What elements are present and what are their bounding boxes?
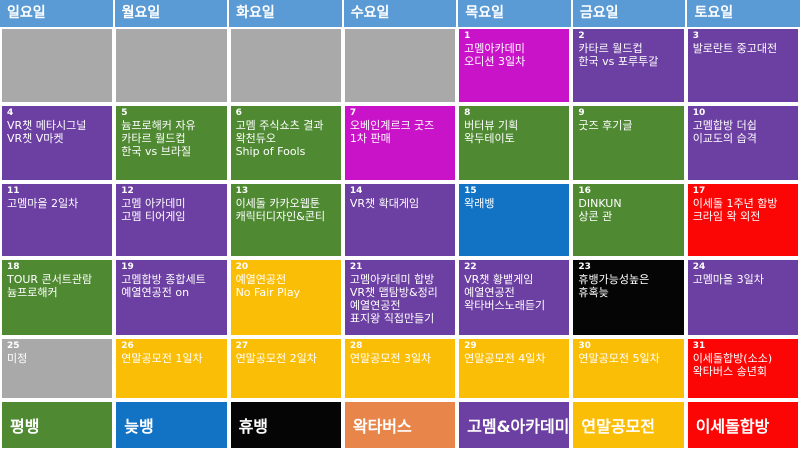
day-number: 8 <box>464 108 565 119</box>
day-cell-17[interactable]: 17이세돌 1주년 함방크라임 왁 외전 <box>686 182 800 258</box>
legend-item-label: 연말공모전 <box>581 413 655 437</box>
day-event: 연말공모전 3일차 <box>350 352 451 365</box>
day-event-list: 고멤아카데미오디션 3일차 <box>464 42 565 68</box>
day-event-list: 미정 <box>7 352 108 365</box>
day-number: 18 <box>7 262 108 273</box>
day-event-list: 발로란트 중고대전 <box>693 42 794 55</box>
day-event: 크라임 왁 외전 <box>693 210 794 223</box>
day-event: 고멤 아카데미 <box>121 197 222 210</box>
day-event: 한국 vs 브라질 <box>121 145 222 158</box>
day-cell-21[interactable]: 21고멤아카데미 합방VR챗 맵탐방&정리예열연공전표지왕 직접만들기 <box>343 258 457 337</box>
day-event: 늄프로해커 <box>7 286 108 299</box>
day-event-list: VR챗 확대게임 <box>350 197 451 210</box>
day-event-list: 고멤 주식쇼츠 결과왁천듀오Ship of Fools <box>236 119 337 158</box>
day-number: 24 <box>693 262 794 273</box>
day-cell-20[interactable]: 20예열연공전No Fair Play <box>229 258 343 337</box>
day-cell-12[interactable]: 12고멤 아카데미고멤 티어게임 <box>114 182 228 258</box>
week-row-4: 18TOUR 콘서트관람늄프로해커19고멤합방 종합세트예열연공전 on20예열… <box>0 258 800 337</box>
day-event: 이세돌합방(소소) <box>693 352 794 365</box>
day-number: 12 <box>121 186 222 197</box>
day-cell-9[interactable]: 9굿즈 후기글 <box>571 104 685 182</box>
legend-item-4[interactable]: 고멤&아카데미 <box>457 400 571 450</box>
day-event-list: 버터뷰 기획왁두테이토 <box>464 119 565 145</box>
day-event: 발로란트 중고대전 <box>693 42 794 55</box>
day-cell-24[interactable]: 24고멤마을 3일차 <box>686 258 800 337</box>
day-number: 22 <box>464 262 565 273</box>
day-event: 연말공모전 4일차 <box>464 352 565 365</box>
day-event: VR챗 V마켓 <box>7 132 108 145</box>
day-event: 예열연공전 <box>464 286 565 299</box>
day-event: 캐릭터디자인&콘티 <box>236 210 337 223</box>
day-event: 왁래뱅 <box>464 197 565 210</box>
day-event: 이세돌 1주년 함방 <box>693 197 794 210</box>
day-event: No Fair Play <box>236 286 337 299</box>
day-number: 30 <box>578 341 679 352</box>
week-row-5: 25미정26연말공모전 1일차27연말공모전 2일차28연말공모전 3일차29연… <box>0 337 800 400</box>
week-row-3: 11고멤마을 2일차12고멤 아카데미고멤 티어게임13이세돌 카카오웹툰캐릭터… <box>0 182 800 258</box>
day-number: 21 <box>350 262 451 273</box>
day-number: 5 <box>121 108 222 119</box>
day-event: 왁타버스노래듣기 <box>464 299 565 312</box>
day-event: 고멤아카데미 <box>464 42 565 55</box>
day-event-list: 오베인계르크 굿즈1차 판매 <box>350 119 451 145</box>
day-event-list: 연말공모전 3일차 <box>350 352 451 365</box>
legend-item-label: 고멤&아카데미 <box>467 413 569 437</box>
day-cell-19[interactable]: 19고멤합방 종합세트예열연공전 on <box>114 258 228 337</box>
day-event-list: 고멤 아카데미고멤 티어게임 <box>121 197 222 223</box>
day-event: 연말공모전 2일차 <box>236 352 337 365</box>
day-event-list: 고멤합방 종합세트예열연공전 on <box>121 273 222 299</box>
day-number: 4 <box>7 108 108 119</box>
day-number: 23 <box>578 262 679 273</box>
legend-item-label: 평뱅 <box>10 413 39 437</box>
day-cell-23[interactable]: 23휴뱅가능성높은휴혹늦 <box>571 258 685 337</box>
day-event: 고멤 티어게임 <box>121 210 222 223</box>
day-cell-4[interactable]: 4VR챗 메타시그널VR챗 V마켓 <box>0 104 114 182</box>
calendar-grid: 일요일월요일화요일수요일목요일금요일토요일 1고멤아카데미오디션 3일차2카타르… <box>0 0 800 450</box>
day-cell-2[interactable]: 2카타르 월드컵한국 vs 포루투갈 <box>571 27 685 104</box>
day-cell-30[interactable]: 30연말공모전 5일차 <box>571 337 685 400</box>
day-number: 14 <box>350 186 451 197</box>
day-event: 예열연공전 <box>350 299 451 312</box>
day-cell-25[interactable]: 25미정 <box>0 337 114 400</box>
day-number: 13 <box>236 186 337 197</box>
day-cell-22[interactable]: 22VR챗 황뱉게임예열연공전왁타버스노래듣기 <box>457 258 571 337</box>
day-event-list: 고멤아카데미 합방VR챗 맵탐방&정리예열연공전표지왕 직접만들기 <box>350 273 451 325</box>
day-number: 17 <box>693 186 794 197</box>
day-event: 1차 판매 <box>350 132 451 145</box>
day-event: 연말공모전 5일차 <box>578 352 679 365</box>
legend-item-3[interactable]: 왁타버스 <box>343 400 457 450</box>
day-event-list: 이세돌 1주년 함방크라임 왁 외전 <box>693 197 794 223</box>
legend-item-label: 늦뱅 <box>124 413 153 437</box>
day-number: 20 <box>236 262 337 273</box>
day-event: 예열연공전 <box>236 273 337 286</box>
day-event: 왁두테이토 <box>464 132 565 145</box>
day-event-list: 굿즈 후기글 <box>578 119 679 132</box>
day-event-list: 이세돌 카카오웹툰캐릭터디자인&콘티 <box>236 197 337 223</box>
day-cell-14[interactable]: 14VR챗 확대게임 <box>343 182 457 258</box>
legend-item-label: 왁타버스 <box>353 413 412 437</box>
day-number: 15 <box>464 186 565 197</box>
day-event: 예열연공전 on <box>121 286 222 299</box>
day-event: 고멤아카데미 합방 <box>350 273 451 286</box>
legend-item-0[interactable]: 평뱅 <box>0 400 114 450</box>
weekday-header-6: 토요일 <box>687 0 800 27</box>
day-event-list: DINKUN상콘 관 <box>578 197 679 223</box>
day-cell-13[interactable]: 13이세돌 카카오웹툰캐릭터디자인&콘티 <box>229 182 343 258</box>
weekday-header-2: 화요일 <box>229 0 344 27</box>
day-event-list: 예열연공전No Fair Play <box>236 273 337 299</box>
day-event-list: TOUR 콘서트관람늄프로해커 <box>7 273 108 299</box>
day-number: 6 <box>236 108 337 119</box>
weekday-header-4: 목요일 <box>458 0 573 27</box>
day-event: TOUR 콘서트관람 <box>7 273 108 286</box>
weekday-header-5: 금요일 <box>573 0 688 27</box>
day-event: 고멤마을 2일차 <box>7 197 108 210</box>
day-cell-8[interactable]: 8버터뷰 기획왁두테이토 <box>457 104 571 182</box>
day-event: 오베인계르크 굿즈 <box>350 119 451 132</box>
day-event-list: 카타르 월드컵한국 vs 포루투갈 <box>578 42 679 68</box>
day-cell-18[interactable]: 18TOUR 콘서트관람늄프로해커 <box>0 258 114 337</box>
day-event-list: 연말공모전 1일차 <box>121 352 222 365</box>
day-event-list: 연말공모전 5일차 <box>578 352 679 365</box>
day-cell-15[interactable]: 15왁래뱅 <box>457 182 571 258</box>
day-event: 휴혹늦 <box>578 286 679 299</box>
day-cell-26[interactable]: 26연말공모전 1일차 <box>114 337 228 400</box>
day-cell-10[interactable]: 10고멤합방 더쉽이교도의 습격 <box>686 104 800 182</box>
day-event: 카타르 월드컵 <box>121 132 222 145</box>
day-event-list: 고멤합방 더쉽이교도의 습격 <box>693 119 794 145</box>
weekday-header-row: 일요일월요일화요일수요일목요일금요일토요일 <box>0 0 800 27</box>
day-event: 굿즈 후기글 <box>578 119 679 132</box>
day-event: VR챗 맵탐방&정리 <box>350 286 451 299</box>
day-event: 카타르 월드컵 <box>578 42 679 55</box>
day-cell-empty[interactable] <box>0 27 114 104</box>
day-event-list: 고멤마을 2일차 <box>7 197 108 210</box>
legend-item-label: 휴뱅 <box>239 413 268 437</box>
weekday-header-1: 월요일 <box>115 0 230 27</box>
day-event: 버터뷰 기획 <box>464 119 565 132</box>
day-event-list: 왁래뱅 <box>464 197 565 210</box>
day-event: 연말공모전 1일차 <box>121 352 222 365</box>
day-event-list: 휴뱅가능성높은휴혹늦 <box>578 273 679 299</box>
week-row-2: 4VR챗 메타시그널VR챗 V마켓5늄프로해커 자유카타르 월드컵한국 vs 브… <box>0 104 800 182</box>
day-number: 29 <box>464 341 565 352</box>
week-row-1: 1고멤아카데미오디션 3일차2카타르 월드컵한국 vs 포루투갈3발로란트 중고… <box>0 27 800 104</box>
day-number: 9 <box>578 108 679 119</box>
day-event: DINKUN <box>578 197 679 210</box>
day-event: 고멤합방 더쉽 <box>693 119 794 132</box>
day-event: 이세돌 카카오웹툰 <box>236 197 337 210</box>
day-event: 한국 vs 포루투갈 <box>578 55 679 68</box>
legend-item-label: 이세돌합방 <box>696 413 770 437</box>
day-event: 이교도의 습격 <box>693 132 794 145</box>
day-number: 16 <box>578 186 679 197</box>
day-event: 고멤 주식쇼츠 결과 <box>236 119 337 132</box>
day-number: 3 <box>693 31 794 42</box>
day-number: 2 <box>578 31 679 42</box>
day-number: 11 <box>7 186 108 197</box>
day-cell-5[interactable]: 5늄프로해커 자유카타르 월드컵한국 vs 브라질 <box>114 104 228 182</box>
day-event-list: 연말공모전 2일차 <box>236 352 337 365</box>
day-event: 상콘 관 <box>578 210 679 223</box>
day-event-list: 고멤마을 3일차 <box>693 273 794 286</box>
day-event: 왁타버스 송년회 <box>693 365 794 378</box>
day-event: 표지왕 직접만들기 <box>350 312 451 325</box>
day-event: VR챗 확대게임 <box>350 197 451 210</box>
day-event: 오디션 3일차 <box>464 55 565 68</box>
day-number: 25 <box>7 341 108 352</box>
day-cell-11[interactable]: 11고멤마을 2일차 <box>0 182 114 258</box>
day-cell-empty[interactable] <box>343 27 457 104</box>
day-cell-1[interactable]: 1고멤아카데미오디션 3일차 <box>457 27 571 104</box>
day-cell-empty[interactable] <box>114 27 228 104</box>
day-event: VR챗 메타시그널 <box>7 119 108 132</box>
day-cell-3[interactable]: 3발로란트 중고대전 <box>686 27 800 104</box>
day-number: 26 <box>121 341 222 352</box>
day-event: 고멤합방 종합세트 <box>121 273 222 286</box>
day-event: 미정 <box>7 352 108 365</box>
day-event-list: 이세돌합방(소소)왁타버스 송년회 <box>693 352 794 378</box>
day-cell-31[interactable]: 31이세돌합방(소소)왁타버스 송년회 <box>686 337 800 400</box>
day-event-list: 연말공모전 4일차 <box>464 352 565 365</box>
day-event: 왁천듀오 <box>236 132 337 145</box>
day-cell-16[interactable]: 16DINKUN상콘 관 <box>571 182 685 258</box>
day-event-list: VR챗 메타시그널VR챗 V마켓 <box>7 119 108 145</box>
legend-item-2[interactable]: 휴뱅 <box>229 400 343 450</box>
day-number: 10 <box>693 108 794 119</box>
weekday-header-0: 일요일 <box>0 0 115 27</box>
day-cell-7[interactable]: 7오베인계르크 굿즈1차 판매 <box>343 104 457 182</box>
day-cell-28[interactable]: 28연말공모전 3일차 <box>343 337 457 400</box>
day-event-list: 늄프로해커 자유카타르 월드컵한국 vs 브라질 <box>121 119 222 158</box>
day-number: 19 <box>121 262 222 273</box>
day-event: 고멤마을 3일차 <box>693 273 794 286</box>
day-cell-empty[interactable] <box>229 27 343 104</box>
day-number: 31 <box>693 341 794 352</box>
day-number: 1 <box>464 31 565 42</box>
day-number: 28 <box>350 341 451 352</box>
legend-row: 평뱅늦뱅휴뱅왁타버스고멤&아카데미연말공모전이세돌합방 <box>0 400 800 450</box>
weekday-header-3: 수요일 <box>344 0 459 27</box>
day-event: Ship of Fools <box>236 145 337 158</box>
legend-item-1[interactable]: 늦뱅 <box>114 400 228 450</box>
day-event-list: VR챗 황뱉게임예열연공전왁타버스노래듣기 <box>464 273 565 312</box>
day-event: VR챗 황뱉게임 <box>464 273 565 286</box>
day-number: 27 <box>236 341 337 352</box>
day-event: 휴뱅가능성높은 <box>578 273 679 286</box>
legend-item-5[interactable]: 연말공모전 <box>571 400 685 450</box>
day-event: 늄프로해커 자유 <box>121 119 222 132</box>
day-cell-27[interactable]: 27연말공모전 2일차 <box>229 337 343 400</box>
legend-item-6[interactable]: 이세돌합방 <box>686 400 800 450</box>
day-number: 7 <box>350 108 451 119</box>
day-cell-6[interactable]: 6고멤 주식쇼츠 결과왁천듀오Ship of Fools <box>229 104 343 182</box>
day-cell-29[interactable]: 29연말공모전 4일차 <box>457 337 571 400</box>
